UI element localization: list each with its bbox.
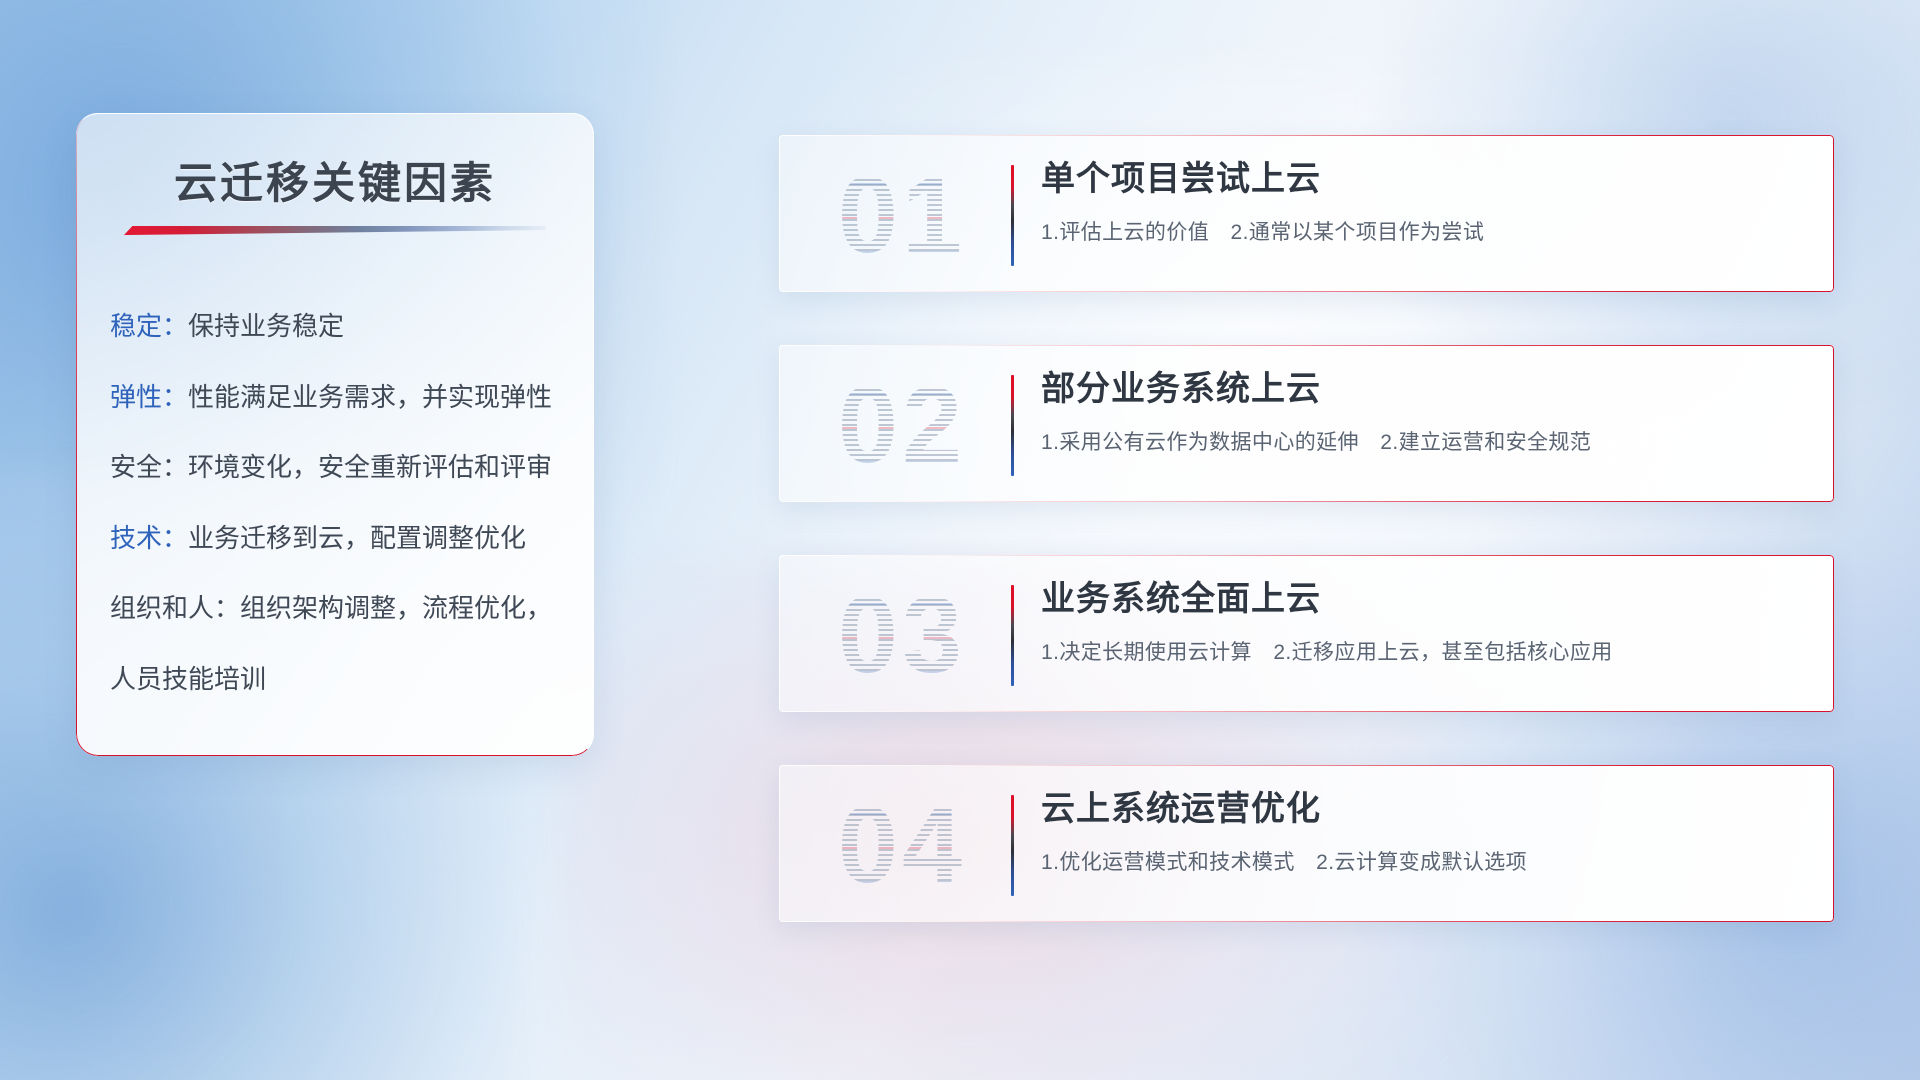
list-item: 组织和人：组织架构调整，流程优化， bbox=[106, 591, 572, 626]
stage-card[interactable]: 02 02 部分业务系统上云 1.采用公有云作为数据中心的延伸 2.建立运营和安… bbox=[779, 345, 1834, 502]
card-step-number-tint: 01 bbox=[807, 149, 997, 281]
list-item-text: 性能满足业务需求，并实现弹性 bbox=[188, 382, 552, 412]
card-divider-bar bbox=[1011, 795, 1014, 896]
stage-card[interactable]: 03 03 业务系统全面上云 1.决定长期使用云计算 2.迁移应用上云，甚至包括… bbox=[779, 555, 1834, 712]
list-item-text: 环境变化，安全重新评估和评审 bbox=[188, 452, 552, 482]
list-item: 技术：业务迁移到云，配置调整优化 bbox=[106, 521, 572, 556]
card-divider-bar bbox=[1011, 585, 1014, 686]
list-item-label: 安全： bbox=[110, 452, 188, 482]
card-divider-bar bbox=[1011, 165, 1014, 266]
key-factors-panel: 云迁移关键因素 稳定：保持业务稳定 弹性：性能满足业务需求，并实现弹性 安全：环… bbox=[76, 113, 594, 756]
card-description: 1.决定长期使用云计算 2.迁移应用上云，甚至包括核心应用 bbox=[1041, 638, 1808, 667]
list-item-label: 稳定： bbox=[110, 311, 188, 341]
card-step-number: 04 bbox=[807, 779, 997, 911]
list-item-continuation: 人员技能培训 bbox=[106, 662, 572, 697]
card-description: 1.评估上云的价值 2.通常以某个项目作为尝试 bbox=[1041, 218, 1808, 247]
list-item: 安全：环境变化，安全重新评估和评审 bbox=[106, 450, 572, 485]
list-item-text: 保持业务稳定 bbox=[188, 311, 344, 341]
card-title: 云上系统运营优化 bbox=[1041, 787, 1808, 831]
key-factors-list: 稳定：保持业务稳定 弹性：性能满足业务需求，并实现弹性 安全：环境变化，安全重新… bbox=[106, 309, 572, 696]
list-item-text: 人员技能培训 bbox=[110, 664, 266, 694]
card-step-number-tint: 03 bbox=[807, 569, 997, 701]
card-step-number: 03 bbox=[807, 569, 997, 701]
title-underline-rule bbox=[124, 226, 546, 235]
list-item-label: 组织和人： bbox=[110, 593, 240, 623]
card-text-block: 业务系统全面上云 1.决定长期使用云计算 2.迁移应用上云，甚至包括核心应用 bbox=[1041, 577, 1808, 668]
stage-card[interactable]: 04 04 云上系统运营优化 1.优化运营模式和技术模式 2.云计算变成默认选项 bbox=[779, 765, 1834, 922]
stage-card-list: 01 01 单个项目尝试上云 1.评估上云的价值 2.通常以某个项目作为尝试 0… bbox=[779, 135, 1834, 922]
list-item: 稳定：保持业务稳定 bbox=[106, 309, 572, 344]
list-item-label: 技术： bbox=[110, 523, 188, 553]
card-description: 1.优化运营模式和技术模式 2.云计算变成默认选项 bbox=[1041, 848, 1808, 877]
panel-title: 云迁移关键因素 bbox=[76, 149, 594, 211]
list-item-text: 组织架构调整，流程优化， bbox=[240, 593, 552, 623]
list-item-text: 业务迁移到云，配置调整优化 bbox=[188, 523, 526, 553]
stage-card[interactable]: 01 01 单个项目尝试上云 1.评估上云的价值 2.通常以某个项目作为尝试 bbox=[779, 135, 1834, 292]
card-description: 1.采用公有云作为数据中心的延伸 2.建立运营和安全规范 bbox=[1041, 428, 1808, 457]
card-text-block: 云上系统运营优化 1.优化运营模式和技术模式 2.云计算变成默认选项 bbox=[1041, 787, 1808, 878]
card-title: 单个项目尝试上云 bbox=[1041, 157, 1808, 201]
list-item: 弹性：性能满足业务需求，并实现弹性 bbox=[106, 380, 572, 415]
list-item-label: 弹性： bbox=[110, 382, 188, 412]
card-step-number: 02 bbox=[807, 359, 997, 491]
card-text-block: 单个项目尝试上云 1.评估上云的价值 2.通常以某个项目作为尝试 bbox=[1041, 157, 1808, 248]
card-divider-bar bbox=[1011, 375, 1014, 476]
card-step-number: 01 bbox=[807, 149, 997, 281]
card-title: 业务系统全面上云 bbox=[1041, 577, 1808, 621]
card-step-number-tint: 02 bbox=[807, 359, 997, 491]
card-step-number-tint: 04 bbox=[807, 779, 997, 911]
card-title: 部分业务系统上云 bbox=[1041, 367, 1808, 411]
card-text-block: 部分业务系统上云 1.采用公有云作为数据中心的延伸 2.建立运营和安全规范 bbox=[1041, 367, 1808, 458]
